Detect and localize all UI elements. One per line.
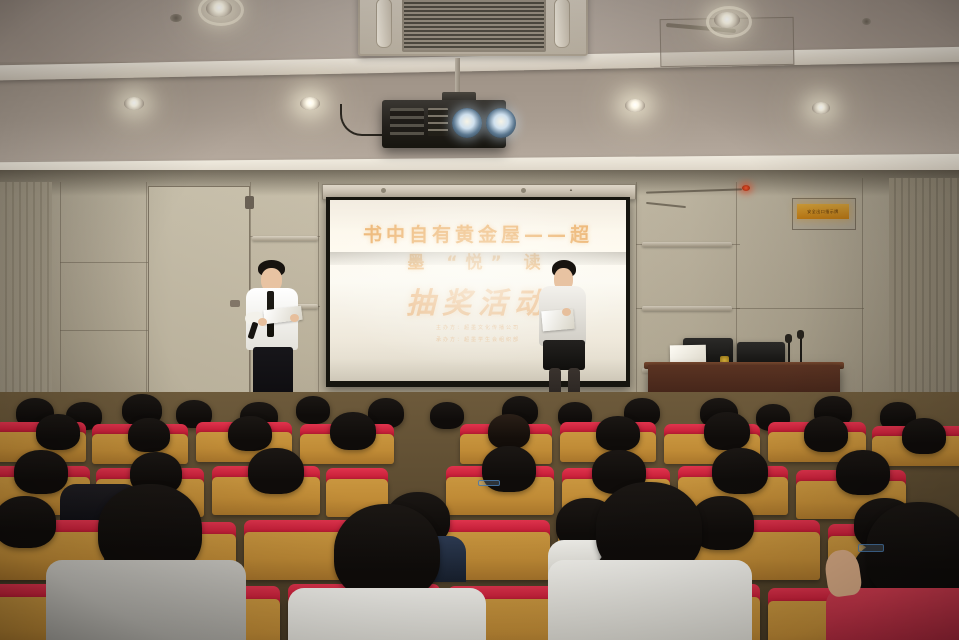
projector-keypad xyxy=(390,108,424,136)
valance-screw-1 xyxy=(381,188,386,193)
audience-head xyxy=(228,416,272,451)
microphone-head-right xyxy=(797,330,804,339)
audience-head xyxy=(128,418,170,452)
audience-torso-foreground xyxy=(288,588,486,640)
audience-seating-area xyxy=(0,392,959,640)
downlight-icon-2 xyxy=(714,12,740,28)
audience-head xyxy=(330,412,376,450)
male-host-hand-right xyxy=(290,314,299,322)
ac-vane-right xyxy=(554,0,570,48)
ceiling-sensor-dot xyxy=(170,14,182,22)
downlight-icon-5 xyxy=(625,99,645,112)
valance-screw-2 xyxy=(521,188,526,193)
audience-torso-foreground xyxy=(548,560,752,640)
microphone-head-left xyxy=(785,334,792,343)
audience-head xyxy=(430,402,464,429)
ceiling-ac-unit-icon xyxy=(358,0,588,56)
audience-head xyxy=(0,496,56,548)
audience-head xyxy=(296,396,330,424)
downlight-icon-4 xyxy=(300,97,320,110)
ceiling-sensor-dot-2 xyxy=(862,18,871,25)
screen-grey-band xyxy=(330,252,626,265)
ac-grille xyxy=(402,0,546,52)
audience-head xyxy=(488,414,530,449)
downlight-icon-6 xyxy=(812,102,830,114)
audience-head xyxy=(836,450,890,495)
audience-torso-foreground xyxy=(46,560,246,640)
audience-head xyxy=(248,448,304,494)
lecture-hall-photo: 安全出口指示牌 ▲ 书中自有黄金屋——超 墨 “悦” 读 抽奖活动 主办方：超墨… xyxy=(0,0,959,640)
audience-head xyxy=(902,418,946,454)
female-host-hand xyxy=(562,308,571,316)
projector-lens-right xyxy=(486,108,516,138)
ac-vane-left xyxy=(376,0,392,48)
downlight-icon-1 xyxy=(206,0,232,17)
audience-head xyxy=(36,414,80,450)
downlight-icon-3 xyxy=(124,97,144,110)
audience-head-foreground xyxy=(334,504,440,600)
slide-headline-1: 书中自有黄金屋——超 xyxy=(330,220,626,247)
audience-head xyxy=(704,412,750,450)
audience-head xyxy=(14,450,68,494)
male-host-hand-left xyxy=(258,318,267,326)
eyeglasses-icon xyxy=(478,480,500,486)
audience-head xyxy=(596,416,640,451)
female-host-skirt xyxy=(543,340,585,370)
screen-brand-mark: ▲ xyxy=(569,187,573,192)
audience-head xyxy=(712,448,768,494)
projector-lens-left xyxy=(452,108,482,138)
audience-head xyxy=(804,416,848,452)
eyeglasses-icon xyxy=(858,544,884,552)
projector-indicator-leds xyxy=(428,108,448,136)
